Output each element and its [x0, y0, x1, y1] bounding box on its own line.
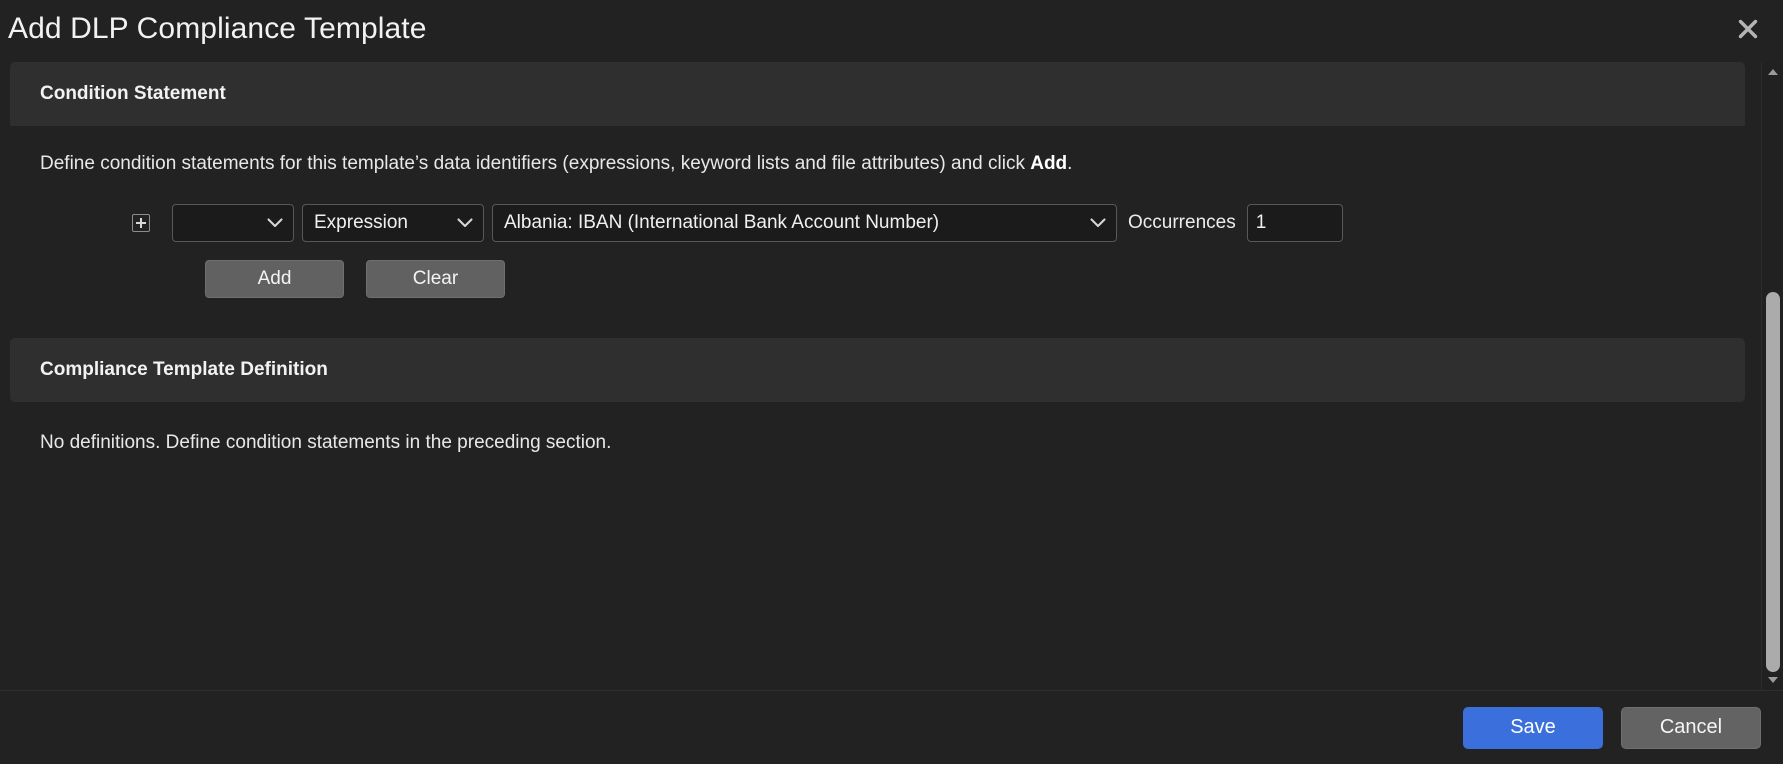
condition-statement-section: Condition Statement Define condition sta… [10, 62, 1745, 298]
triangle-down-icon[interactable] [1762, 672, 1783, 688]
operator-dropdown[interactable] [172, 204, 294, 242]
clear-button[interactable]: Clear [366, 260, 505, 298]
dialog-title: Add DLP Compliance Template [8, 12, 427, 46]
no-definitions-text: No definitions. Define condition stateme… [10, 402, 1745, 454]
close-icon[interactable] [1731, 12, 1765, 46]
dialog-titlebar: Add DLP Compliance Template [0, 0, 1783, 62]
scrollbar-thumb[interactable] [1766, 292, 1780, 672]
save-button[interactable]: Save [1463, 707, 1603, 749]
add-button[interactable]: Add [205, 260, 344, 298]
section-spacer [0, 298, 1755, 338]
data-identifier-value: Albania: IBAN (International Bank Accoun… [504, 212, 939, 234]
triangle-up-icon[interactable] [1762, 64, 1783, 80]
condition-statement-body: Define condition statements for this tem… [10, 126, 1745, 298]
condition-statement-row: Expression Albania: IBAN (International … [40, 204, 1715, 242]
vertical-scrollbar[interactable] [1761, 62, 1783, 690]
occurrences-label: Occurrences [1128, 212, 1236, 234]
definition-body-spacer [10, 454, 1745, 558]
chevron-down-icon [267, 212, 283, 234]
dialog-footer: Save Cancel [0, 690, 1783, 764]
chevron-down-icon [1090, 212, 1106, 234]
condition-action-buttons: Add Clear [40, 260, 1715, 298]
condition-statement-title: Condition Statement [40, 83, 226, 105]
data-identifier-dropdown[interactable]: Albania: IBAN (International Bank Accoun… [492, 204, 1117, 242]
chevron-down-icon [457, 212, 473, 234]
dialog-content: Condition Statement Define condition sta… [0, 62, 1755, 558]
occurrences-input[interactable] [1247, 204, 1343, 242]
plus-box-icon[interactable] [132, 214, 150, 232]
compliance-template-definition-header: Compliance Template Definition [10, 338, 1745, 402]
compliance-template-definition-title: Compliance Template Definition [40, 359, 328, 381]
statement-type-dropdown[interactable]: Expression [302, 204, 484, 242]
dialog-scroll-area: Condition Statement Define condition sta… [0, 62, 1783, 690]
description-prefix: Define condition statements for this tem… [40, 153, 1030, 174]
compliance-template-definition-section: Compliance Template Definition No defini… [10, 338, 1745, 558]
statement-type-value: Expression [314, 212, 408, 234]
condition-statement-header: Condition Statement [10, 62, 1745, 126]
description-suffix: . [1067, 153, 1072, 174]
condition-statement-description: Define condition statements for this tem… [40, 152, 1715, 177]
description-bold-add: Add [1030, 153, 1067, 174]
cancel-button[interactable]: Cancel [1621, 707, 1761, 749]
add-dlp-compliance-template-dialog: Add DLP Compliance Template Condition St… [0, 0, 1783, 764]
